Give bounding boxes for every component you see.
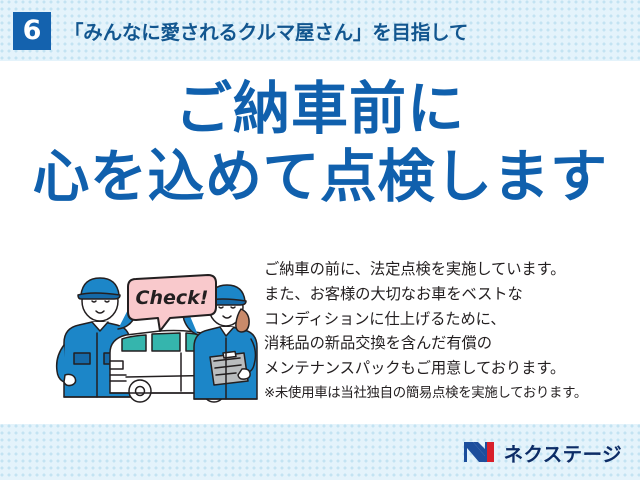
headline: ご納車前に 心を込めて点検します bbox=[0, 79, 640, 208]
check-label: Check! bbox=[136, 287, 209, 309]
main-content: ご納車前に 心を込めて点検します ご納車の前に、法定点検を実施しています。 また… bbox=[0, 61, 640, 424]
header-band: 6 「みんなに愛されるクルマ屋さん」を目指して bbox=[0, 0, 640, 61]
header-title: 「みんなに愛されるクルマ屋さん」を目指して bbox=[64, 16, 468, 45]
illustration-svg: Check! bbox=[48, 265, 260, 405]
body-line: コンディションに仕上げるために、 bbox=[264, 307, 636, 332]
nextage-n-logo-icon bbox=[463, 440, 497, 464]
body-line: 消耗品の新品交換を含んだ有償の bbox=[264, 331, 636, 356]
section-number-badge: 6 bbox=[13, 12, 51, 50]
headline-line-1: ご納車前に bbox=[0, 79, 640, 139]
footer-band: ネクステージ bbox=[0, 424, 640, 480]
mechanics-illustration: Check! bbox=[48, 265, 260, 405]
brand-logo: ネクステージ bbox=[463, 424, 622, 480]
advertisement-page: 6 「みんなに愛されるクルマ屋さん」を目指して ご納車前に 心を込めて点検します… bbox=[0, 0, 640, 480]
body-line: メンテナンスパックもご用意しております。 bbox=[264, 356, 636, 381]
body-line: また、お客様の大切なお車をベストな bbox=[264, 282, 636, 307]
headline-line-2: 心を込めて点検します bbox=[0, 147, 640, 207]
body-copy: ご納車の前に、法定点検を実施しています。 また、お客様の大切なお車をベストな コ… bbox=[264, 257, 636, 405]
header-content: 6 「みんなに愛されるクルマ屋さん」を目指して bbox=[0, 0, 640, 61]
brand-name: ネクステージ bbox=[504, 438, 622, 467]
body-footnote: ※未使用車は当社独自の簡易点検を実施しております。 bbox=[264, 383, 636, 405]
body-line: ご納車の前に、法定点検を実施しています。 bbox=[264, 257, 636, 282]
